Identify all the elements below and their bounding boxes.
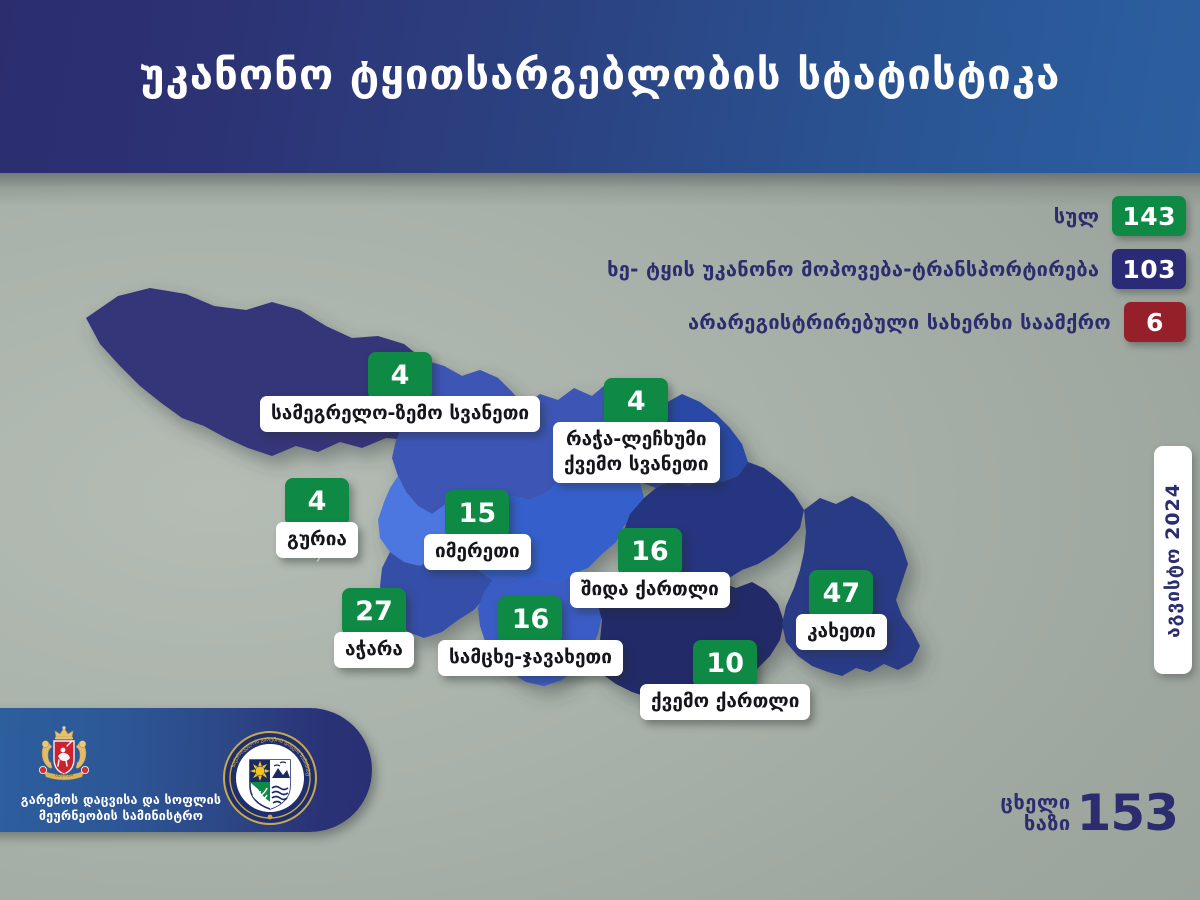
legend-label-unregistered-sawmill: არარეგისტრირებული სახერხი საამქრო — [688, 310, 1111, 334]
marker-shida-kartli: 16 შიდა ქართლი — [570, 528, 730, 608]
marker-value-imereti: 15 — [445, 490, 509, 538]
svg-text:GEORGIA: GEORGIA — [55, 773, 74, 778]
marker-kvemo-kartli: 10 ქვემო ქართლი — [640, 640, 810, 720]
georgian-coat-of-arms-icon: GEORGIA — [30, 726, 98, 784]
hotline: ცხელი ხაზი 153 — [1000, 788, 1178, 838]
marker-value-adjara: 27 — [342, 588, 406, 636]
infographic-page: უკანონო ტყითსარგებლობის სტატისტიკა — [0, 0, 1200, 900]
legend-label-total: სულ — [1054, 204, 1100, 228]
marker-samegrelo-zemo-svaneti: 4 სამეგრელო-ზემო სვანეთი — [260, 352, 540, 432]
marker-label-racha-lechkhumi: რაჭა-ლეჩხუმი ქვემო სვანეთი — [553, 422, 720, 483]
date-tab: აგვისტო 2024 — [1154, 446, 1192, 674]
legend-label-illegal-logging: ხე- ტყის უკანონო მოპოვება-ტრანსპორტირება — [607, 257, 1099, 281]
marker-label-samegrelo-zemo-svaneti: სამეგრელო-ზემო სვანეთი — [260, 396, 540, 432]
hotline-label: ცხელი ხაზი — [1000, 792, 1070, 834]
marker-value-racha-lechkhumi: 4 — [604, 378, 668, 426]
marker-samtskhe-javakheti: 16 სამცხე-ჯავახეთი — [438, 596, 623, 676]
marker-label-adjara: აჭარა — [334, 632, 414, 668]
legend-row-total: სულ 143 — [1054, 196, 1186, 236]
marker-kakheti: 47 კახეთი — [796, 570, 887, 650]
marker-value-kakheti: 47 — [809, 570, 873, 618]
legend: სულ 143 ხე- ტყის უკანონო მოპოვება-ტრანსპ… — [607, 196, 1186, 342]
legend-row-illegal-logging: ხე- ტყის უკანონო მოპოვება-ტრანსპორტირება… — [607, 249, 1186, 289]
ministry-name: გარემოს დაცვისა და სოფლის მეურნეობის სამ… — [6, 792, 236, 824]
marker-imereti: 15 იმერეთი — [424, 490, 531, 570]
date-tab-label: აგვისტო 2024 — [1162, 483, 1184, 638]
marker-value-kvemo-kartli: 10 — [693, 640, 757, 688]
marker-value-shida-kartli: 16 — [618, 528, 682, 576]
marker-label-guria: გურია — [276, 522, 358, 558]
legend-value-unregistered-sawmill: 6 — [1124, 302, 1186, 342]
marker-value-samtskhe-javakheti: 16 — [498, 596, 562, 644]
footer-bar: GEORGIA — [0, 708, 372, 832]
marker-label-shida-kartli: შიდა ქართლი — [570, 572, 730, 608]
marker-value-guria: 4 — [285, 478, 349, 526]
hotline-number: 153 — [1077, 788, 1178, 838]
ministry-seal-icon: საქართველოს გარემოს დაცვის სამინისტრო — [222, 730, 318, 826]
legend-value-illegal-logging: 103 — [1112, 249, 1186, 289]
header-banner: უკანონო ტყითსარგებლობის სტატისტიკა — [0, 0, 1200, 173]
marker-label-imereti: იმერეთი — [424, 534, 531, 570]
marker-label-kakheti: კახეთი — [796, 614, 887, 650]
marker-racha-lechkhumi: 4 რაჭა-ლეჩხუმი ქვემო სვანეთი — [553, 378, 720, 483]
marker-guria: 4 გურია — [276, 478, 358, 558]
marker-adjara: 27 აჭარა — [334, 588, 414, 668]
page-title: უკანონო ტყითსარგებლობის სტატისტიკა — [0, 47, 1200, 103]
legend-value-total: 143 — [1112, 196, 1186, 236]
marker-label-samtskhe-javakheti: სამცხე-ჯავახეთი — [438, 640, 623, 676]
marker-label-kvemo-kartli: ქვემო ქართლი — [640, 684, 810, 720]
legend-row-unregistered-sawmill: არარეგისტრირებული სახერხი საამქრო 6 — [688, 302, 1186, 342]
marker-value-samegrelo-zemo-svaneti: 4 — [368, 352, 432, 400]
